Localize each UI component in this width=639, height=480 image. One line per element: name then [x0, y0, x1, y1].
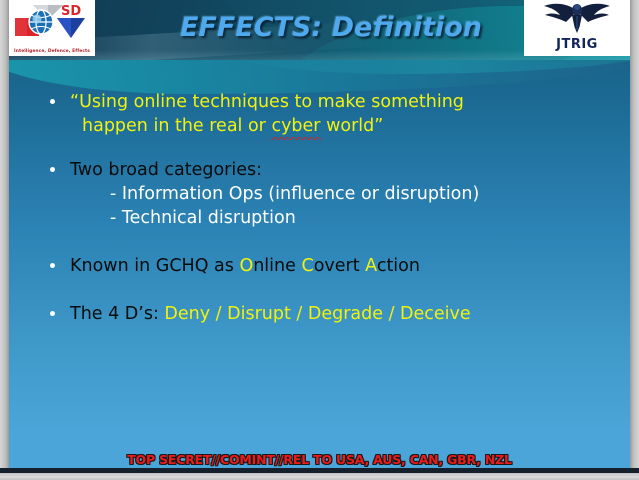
bullet-gchq-oca: Known in GCHQ as Online Covert Action — [46, 254, 616, 278]
quote-line-2-suffix: world” — [321, 116, 384, 136]
four-ds-line: The 4 D’s: Deny / Disrupt / Degrade / De… — [70, 302, 616, 326]
slide-border-bottom-light — [0, 473, 639, 480]
four-ds-prefix: The 4 D’s: — [70, 304, 164, 324]
oca-rest-covert: overt — [314, 256, 365, 276]
oca-highlight-c: C — [301, 256, 313, 276]
jtrig-logo-label: JTRIG — [524, 37, 630, 52]
gchq-oca-line: Known in GCHQ as Online Covert Action — [70, 254, 616, 278]
jtrig-logo: JTRIG — [524, 0, 630, 56]
bullet-four-ds: The 4 D’s: Deny / Disrupt / Degrade / De… — [46, 302, 616, 326]
bullet-definition-quote: “Using online techniques to make somethi… — [46, 90, 616, 138]
bullet-marker-icon — [50, 99, 55, 104]
page-title: EFFECTS: Definition — [146, 12, 516, 43]
category-item-information-ops: - Information Ops (influence or disrupti… — [70, 182, 616, 206]
bullet-marker-icon — [50, 263, 55, 268]
icsd-logo: SD Intelligence, Defence, Effects — [9, 0, 95, 56]
four-ds-values: Deny / Disrupt / Degrade / Deceive — [164, 304, 470, 324]
slide-content: “Using online techniques to make somethi… — [46, 90, 616, 326]
bullet-two-broad-categories: Two broad categories: - Information Ops … — [46, 158, 616, 230]
oca-highlight-o: O — [239, 256, 253, 276]
icsd-logo-mark: SD — [9, 0, 95, 46]
gchq-oca-prefix: Known in GCHQ as — [70, 256, 239, 276]
spellcheck-underlined-word: cyber — [271, 114, 320, 138]
bullet-marker-icon — [50, 167, 55, 172]
spacer-2 — [46, 230, 616, 254]
quote-line-2-prefix: happen in the real or — [82, 116, 271, 136]
oca-rest-online: nline — [253, 256, 301, 276]
presentation-slide: EFFECTS: Definition SD Intelligence, Def… — [0, 0, 639, 480]
oca-rest-action: ction — [377, 256, 420, 276]
quote-line-2: happen in the real or cyber world” — [70, 114, 616, 138]
oca-highlight-a: A — [365, 256, 377, 276]
quote-line-1: “Using online techniques to make somethi… — [70, 90, 616, 114]
svg-text:SD: SD — [61, 4, 81, 19]
slide-border-left — [0, 0, 9, 472]
jtrig-winged-emblem-icon — [524, 0, 630, 40]
bullet-marker-icon — [50, 311, 55, 316]
classification-banner: TOP SECRET//COMINT//REL TO USA, AUS, CAN… — [9, 452, 630, 467]
spacer-1 — [46, 138, 616, 158]
spacer-3 — [46, 278, 616, 302]
categories-heading: Two broad categories: — [70, 158, 616, 182]
category-item-technical-disruption: - Technical disruption — [70, 206, 616, 230]
icsd-logo-tagline: Intelligence, Defence, Effects — [9, 49, 95, 54]
slide-border-right — [630, 0, 639, 472]
